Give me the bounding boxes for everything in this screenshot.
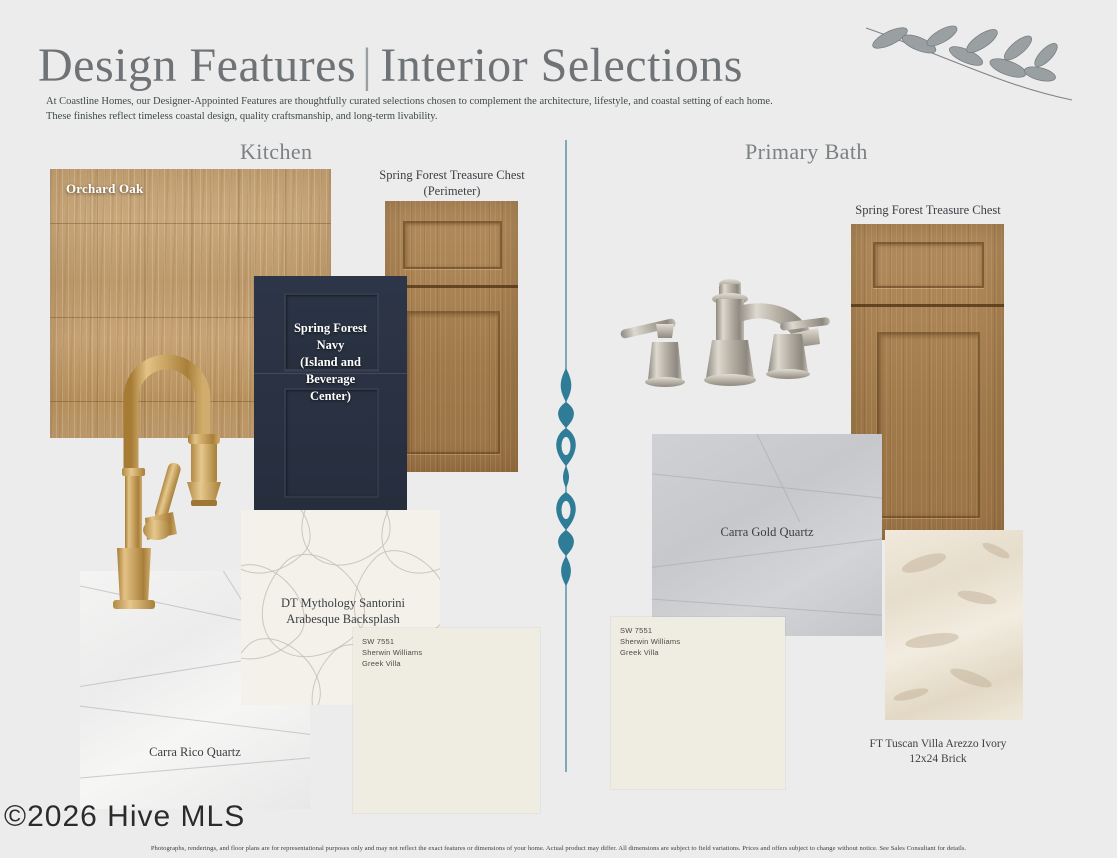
drawer-inset-panel	[873, 242, 984, 288]
quartz-vein	[652, 597, 882, 615]
paint-swatch-text-bath: SW 7551 Sherwin Williams Greek Villa	[620, 625, 680, 658]
subtitle-line-2: These finishes reflect timeless coastal …	[46, 109, 986, 124]
caption-carra-rico-quartz: Carra Rico Quartz	[95, 744, 295, 760]
paint-code: SW 7551	[620, 625, 680, 636]
plank-seam	[50, 223, 331, 224]
navy-label-line-5: Center)	[254, 388, 407, 405]
ornamental-divider-icon	[552, 140, 580, 772]
footer-disclaimer: Photographs, renderings, and floor plans…	[0, 845, 1117, 852]
sample-label-orchard-oak: Orchard Oak	[66, 181, 143, 197]
tile-mottle	[981, 540, 1012, 561]
sample-navy-island-cabinet[interactable]: Spring Forest Navy (Island and Beverage …	[254, 276, 407, 512]
sample-paint-greek-villa-bath[interactable]: SW 7551 Sherwin Williams Greek Villa	[611, 617, 785, 789]
tile-mottle	[900, 549, 948, 577]
subtitle-line-1: At Coastline Homes, our Designer-Appoint…	[46, 94, 986, 109]
caption-travertine-tile: FT Tuscan Villa Arezzo Ivory 12x24 Brick	[838, 737, 1038, 767]
caption-perimeter-line-2: (Perimeter)	[352, 183, 552, 199]
door-inset-panel	[877, 332, 980, 518]
tile-mottle	[948, 665, 993, 691]
quartz-vein	[734, 434, 800, 522]
kitchen-faucet-icon[interactable]	[95, 342, 270, 612]
caption-backsplash: DT Mythology Santorini Arabesque Backspl…	[248, 595, 438, 627]
quartz-vein	[652, 536, 882, 569]
paint-brand: Sherwin Williams	[362, 647, 422, 658]
caption-perimeter-cabinet: Spring Forest Treasure Chest (Perimeter)	[352, 167, 552, 199]
navy-label-line-2: Navy	[254, 337, 407, 354]
section-heading-kitchen: Kitchen	[240, 139, 312, 165]
door-inset-panel	[405, 311, 500, 454]
caption-backsplash-line-2: Arabesque Backsplash	[248, 611, 438, 627]
paint-name: Greek Villa	[362, 658, 422, 669]
section-heading-primary-bath: Primary Bath	[745, 139, 868, 165]
paint-code: SW 7551	[362, 636, 422, 647]
paint-brand: Sherwin Williams	[620, 636, 680, 647]
bath-faucet-icon[interactable]	[612, 272, 844, 394]
sample-label-spring-forest-navy: Spring Forest Navy (Island and Beverage …	[254, 320, 407, 405]
tile-mottle	[904, 630, 959, 650]
caption-tile-line-1: FT Tuscan Villa Arezzo Ivory	[838, 737, 1038, 752]
paint-swatch-text-kitchen: SW 7551 Sherwin Williams Greek Villa	[362, 636, 422, 669]
quartz-vein	[80, 705, 310, 739]
drawer-inset-panel	[403, 221, 502, 269]
design-features-board: Design Features|Interior Selections At C…	[0, 0, 1117, 858]
caption-bath-vanity-cabinet: Spring Forest Treasure Chest	[830, 202, 1026, 218]
page-title-divider: |	[362, 39, 372, 92]
navy-label-line-1: Spring Forest	[254, 320, 407, 337]
watermark: ©2026 Hive MLS	[4, 800, 245, 834]
navy-label-line-4: Beverage	[254, 371, 407, 388]
sample-paint-greek-villa-kitchen[interactable]: SW 7551 Sherwin Williams Greek Villa	[353, 628, 540, 813]
navy-label-line-3: (Island and	[254, 354, 407, 371]
paint-name: Greek Villa	[620, 647, 680, 658]
tile-mottle	[956, 588, 997, 607]
page-title-right: Interior Selections	[380, 39, 743, 92]
caption-perimeter-line-1: Spring Forest Treasure Chest	[352, 167, 552, 183]
caption-tile-line-2: 12x24 Brick	[838, 752, 1038, 767]
page-subtitle: At Coastline Homes, our Designer-Appoint…	[46, 94, 986, 124]
caption-backsplash-line-1: DT Mythology Santorini	[248, 595, 438, 611]
caption-carra-gold-quartz: Carra Gold Quartz	[660, 524, 874, 540]
quartz-vein	[652, 472, 882, 500]
page-title-left: Design Features	[38, 39, 356, 92]
sample-tuscan-villa-arezzo-ivory-tile[interactable]	[885, 530, 1023, 720]
page-title: Design Features|Interior Selections	[38, 38, 743, 93]
olive-branch-icon	[862, 22, 1076, 102]
tile-mottle	[892, 686, 929, 703]
